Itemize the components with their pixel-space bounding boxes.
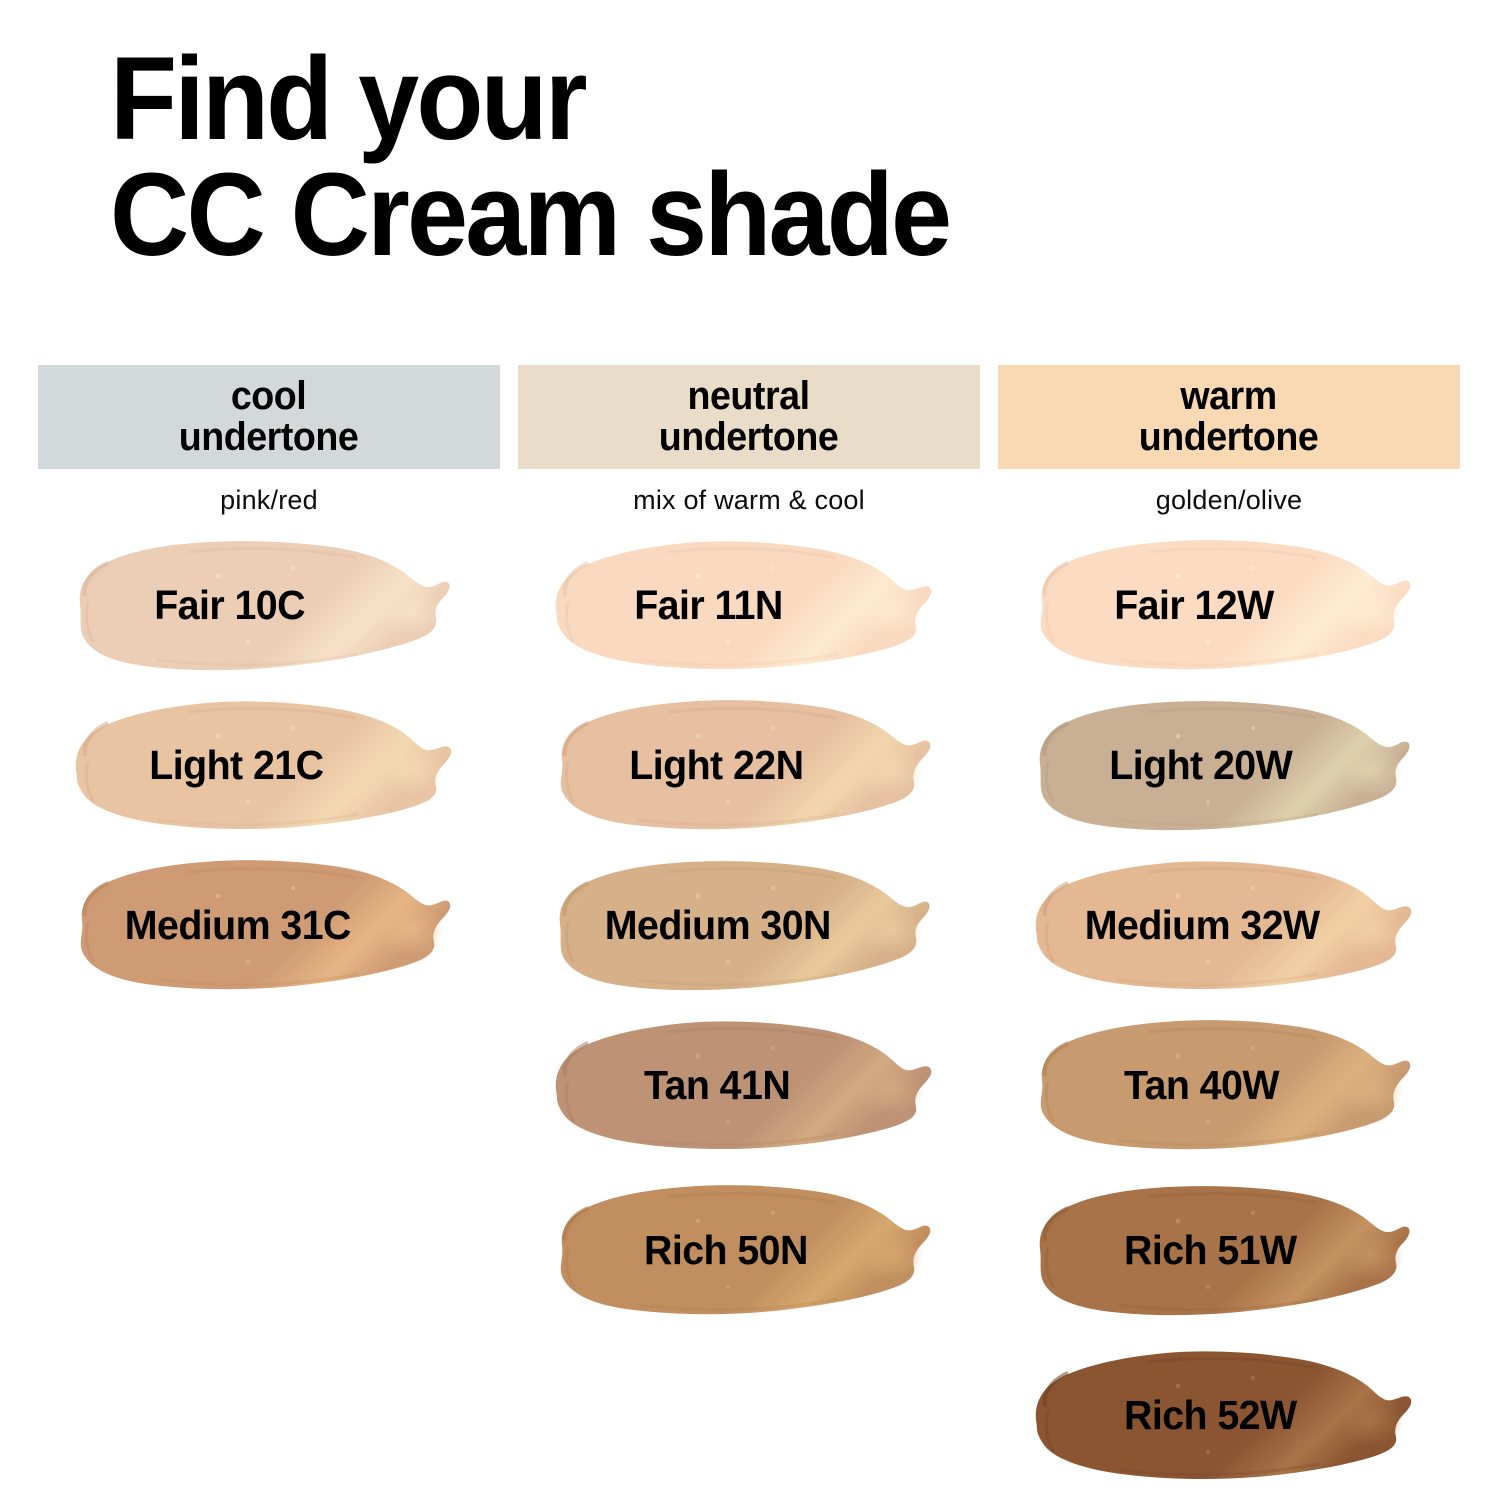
undertone-heading-cool: coolundertone <box>179 376 359 458</box>
shade-swatch[interactable]: Light 20W <box>998 690 1418 840</box>
shade-swatch[interactable]: Light 22N <box>518 690 938 840</box>
undertone-heading-warm: warmundertone <box>1139 376 1319 458</box>
undertone-subtitle-warm: golden/olive <box>998 485 1460 516</box>
undertone-subtitle-neutral: mix of warm & cool <box>518 485 980 516</box>
shade-swatch[interactable]: Tan 40W <box>998 1010 1418 1160</box>
undertone-heading-line-1: cool <box>179 376 359 417</box>
shade-swatch[interactable]: Light 21C <box>38 690 458 840</box>
shade-columns: coolundertonepink/red <box>0 0 1500 1500</box>
shade-swatch[interactable]: Medium 32W <box>998 850 1418 1000</box>
shade-swatch[interactable]: Fair 11N <box>518 530 938 680</box>
undertone-heading-line-2: undertone <box>659 417 839 458</box>
undertone-heading-neutral: neutralundertone <box>659 376 839 458</box>
shade-swatch[interactable]: Fair 12W <box>998 530 1418 680</box>
shade-swatch[interactable]: Tan 41N <box>518 1010 938 1160</box>
shade-swatch[interactable]: Rich 52W <box>998 1340 1418 1490</box>
undertone-heading-band-neutral: neutralundertone <box>518 365 980 469</box>
shade-swatch[interactable]: Fair 10C <box>38 530 458 680</box>
shade-swatch[interactable]: Medium 31C <box>38 850 458 1000</box>
undertone-heading-line-1: warm <box>1139 376 1319 417</box>
undertone-heading-band-cool: coolundertone <box>38 365 500 469</box>
shade-swatch[interactable]: Medium 30N <box>518 850 938 1000</box>
undertone-heading-band-warm: warmundertone <box>998 365 1460 469</box>
shade-swatch[interactable]: Rich 51W <box>998 1175 1418 1325</box>
undertone-heading-line-2: undertone <box>1139 417 1319 458</box>
undertone-subtitle-cool: pink/red <box>38 485 500 516</box>
undertone-heading-line-2: undertone <box>179 417 359 458</box>
shade-swatch[interactable]: Rich 50N <box>518 1175 938 1325</box>
undertone-heading-line-1: neutral <box>659 376 839 417</box>
